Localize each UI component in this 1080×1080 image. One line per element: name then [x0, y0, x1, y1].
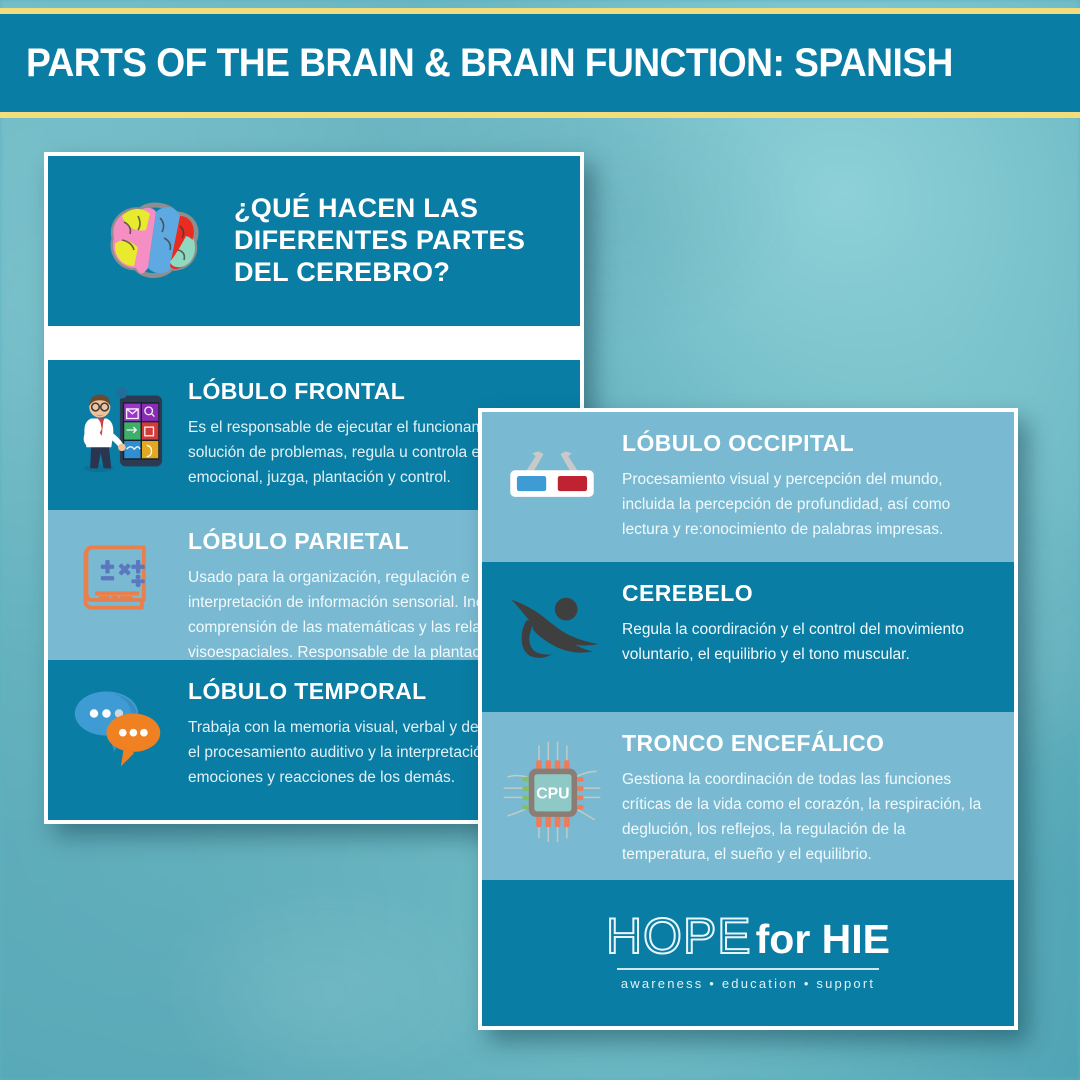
section-cerebelo[interactable]: CEREBELO Regula la coordiración y el con…	[482, 562, 1014, 712]
gymnast-balance-icon	[482, 580, 622, 712]
page-header-banner: PARTS OF THE BRAIN & BRAIN FUNCTION: SPA…	[0, 14, 1080, 112]
section-body: Procesamiento visual y percepción del mu…	[622, 467, 992, 542]
3d-glasses-icon	[482, 430, 622, 562]
section-body: Gestiona la coordinación de todas las fu…	[622, 767, 992, 867]
page-title: PARTS OF THE BRAIN & BRAIN FUNCTION: SPA…	[26, 41, 953, 86]
section-heading: TRONCO ENCEFÁLICO	[622, 730, 992, 757]
section-heading: LÓBULO FRONTAL	[188, 378, 562, 405]
math-book-icon	[48, 528, 188, 660]
logo-word-for-hie: for HIE	[756, 916, 890, 963]
card-left-title-line3: DEL CEREBRO?	[234, 257, 525, 289]
speech-bubbles-icon	[48, 678, 188, 820]
card-left-white-divider	[48, 326, 580, 360]
hope-for-hie-logo[interactable]: HOPE for HIE awareness • education • sup…	[606, 907, 890, 991]
screenshot-canvas: PARTS OF THE BRAIN & BRAIN FUNCTION: SPA…	[0, 0, 1080, 1080]
card-left-title-line2: DIFERENTES PARTES	[234, 225, 525, 257]
section-heading: LÓBULO OCCIPITAL	[622, 430, 992, 457]
colorful-brain-icon	[98, 196, 204, 286]
logo-tagline: awareness • education • support	[606, 976, 890, 991]
card-left-title-line1: ¿QUÉ HACEN LAS	[234, 193, 525, 225]
section-tronco-encefalico[interactable]: CPU TRONCO ENCEFÁLICO Gestiona la coordi…	[482, 712, 1014, 880]
card-right-footer: HOPE for HIE awareness • education • sup…	[482, 880, 1014, 1026]
cpu-chip-icon: CPU	[482, 730, 622, 880]
logo-underline	[617, 968, 879, 970]
card-left-header: ¿QUÉ HACEN LAS DIFERENTES PARTES DEL CER…	[48, 156, 580, 326]
cpu-chip-label: CPU	[536, 785, 569, 802]
section-heading: CEREBELO	[622, 580, 992, 607]
section-body: Regula la coordiración y el control del …	[622, 617, 992, 667]
logo-word-hope: HOPE	[606, 907, 752, 965]
card-left-title: ¿QUÉ HACEN LAS DIFERENTES PARTES DEL CER…	[234, 193, 525, 289]
presenter-tablet-icon	[48, 378, 188, 510]
section-lobulo-occipital[interactable]: LÓBULO OCCIPITAL Procesamiento visual y …	[482, 412, 1014, 562]
infographic-card-right[interactable]: LÓBULO OCCIPITAL Procesamiento visual y …	[478, 408, 1018, 1030]
